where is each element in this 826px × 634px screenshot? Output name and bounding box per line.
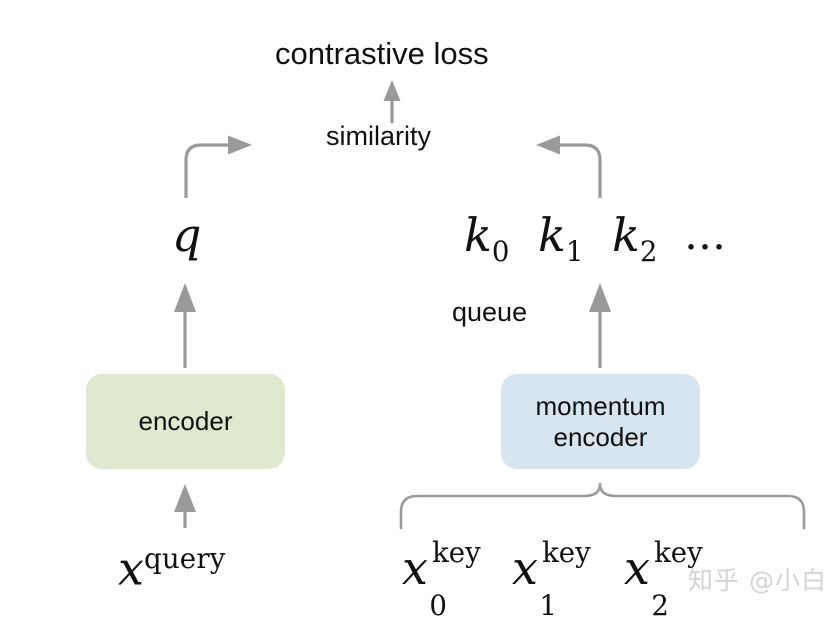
symbol-x-key-1-base: x — [512, 541, 538, 595]
symbol-x-key-2-superscript: key — [654, 539, 703, 567]
curved-arrow-q-to-similarity — [186, 136, 252, 199]
symbol-k0: k0 — [464, 212, 509, 266]
arrow-up-momentum-encoder-to-keys — [589, 283, 611, 368]
symbol-k0-base: k — [464, 208, 492, 262]
symbol-x-key-0-base: x — [402, 541, 428, 595]
symbol-k2-subscript: 2 — [640, 235, 658, 268]
momentum-encoder-line-2: encoder — [554, 422, 648, 452]
symbol-k2-base: k — [612, 208, 640, 262]
arrow-up-encoder-to-q — [174, 283, 196, 368]
symbol-x-query-superscript: query — [144, 542, 226, 575]
contrastive-loss-label: contrastive loss — [275, 38, 489, 69]
symbol-x-query-base: x — [118, 541, 144, 595]
symbol-k1-subscript: 1 — [566, 235, 584, 268]
symbol-x-key-0: xkey0 — [402, 545, 507, 591]
symbol-x-key-0-subscript: 0 — [429, 592, 447, 620]
brace-over-key-samples — [401, 484, 804, 528]
watermark-text: 知乎 @小白 — [688, 568, 826, 593]
momentum-encoder-box: momentumencoder — [501, 374, 700, 469]
symbol-k1-base: k — [538, 208, 566, 262]
similarity-label: similarity — [326, 123, 431, 150]
symbol-x-key-1-superscript: key — [542, 539, 591, 567]
symbol-q-base: q — [172, 208, 201, 262]
encoder-box-label: encoder — [139, 406, 233, 437]
symbol-k-ellipsis: … — [684, 214, 726, 256]
symbol-x-key-0-superscript: key — [432, 539, 481, 567]
queue-label: queue — [452, 299, 527, 326]
curved-arrow-keys-to-similarity — [536, 136, 600, 199]
symbol-k2: k2 — [612, 212, 657, 266]
arrow-up-xquery-to-encoder — [174, 484, 196, 528]
symbol-k0-subscript: 0 — [492, 235, 510, 268]
arrow-up-to-contrastive-loss — [384, 80, 401, 123]
encoder-box: encoder — [86, 374, 285, 469]
symbol-x-key-1: xkey1 — [512, 545, 617, 591]
symbol-x-key-2-subscript: 2 — [651, 592, 669, 620]
symbol-k1: k1 — [538, 212, 583, 266]
momentum-encoder-box-label: momentumencoder — [535, 391, 665, 452]
momentum-encoder-line-1: momentum — [535, 391, 665, 421]
symbol-x-key-1-subscript: 1 — [539, 592, 557, 620]
symbol-x-key-2-base: x — [624, 541, 650, 595]
symbol-q: q — [172, 212, 201, 258]
symbol-x-query: xquery — [118, 545, 226, 591]
